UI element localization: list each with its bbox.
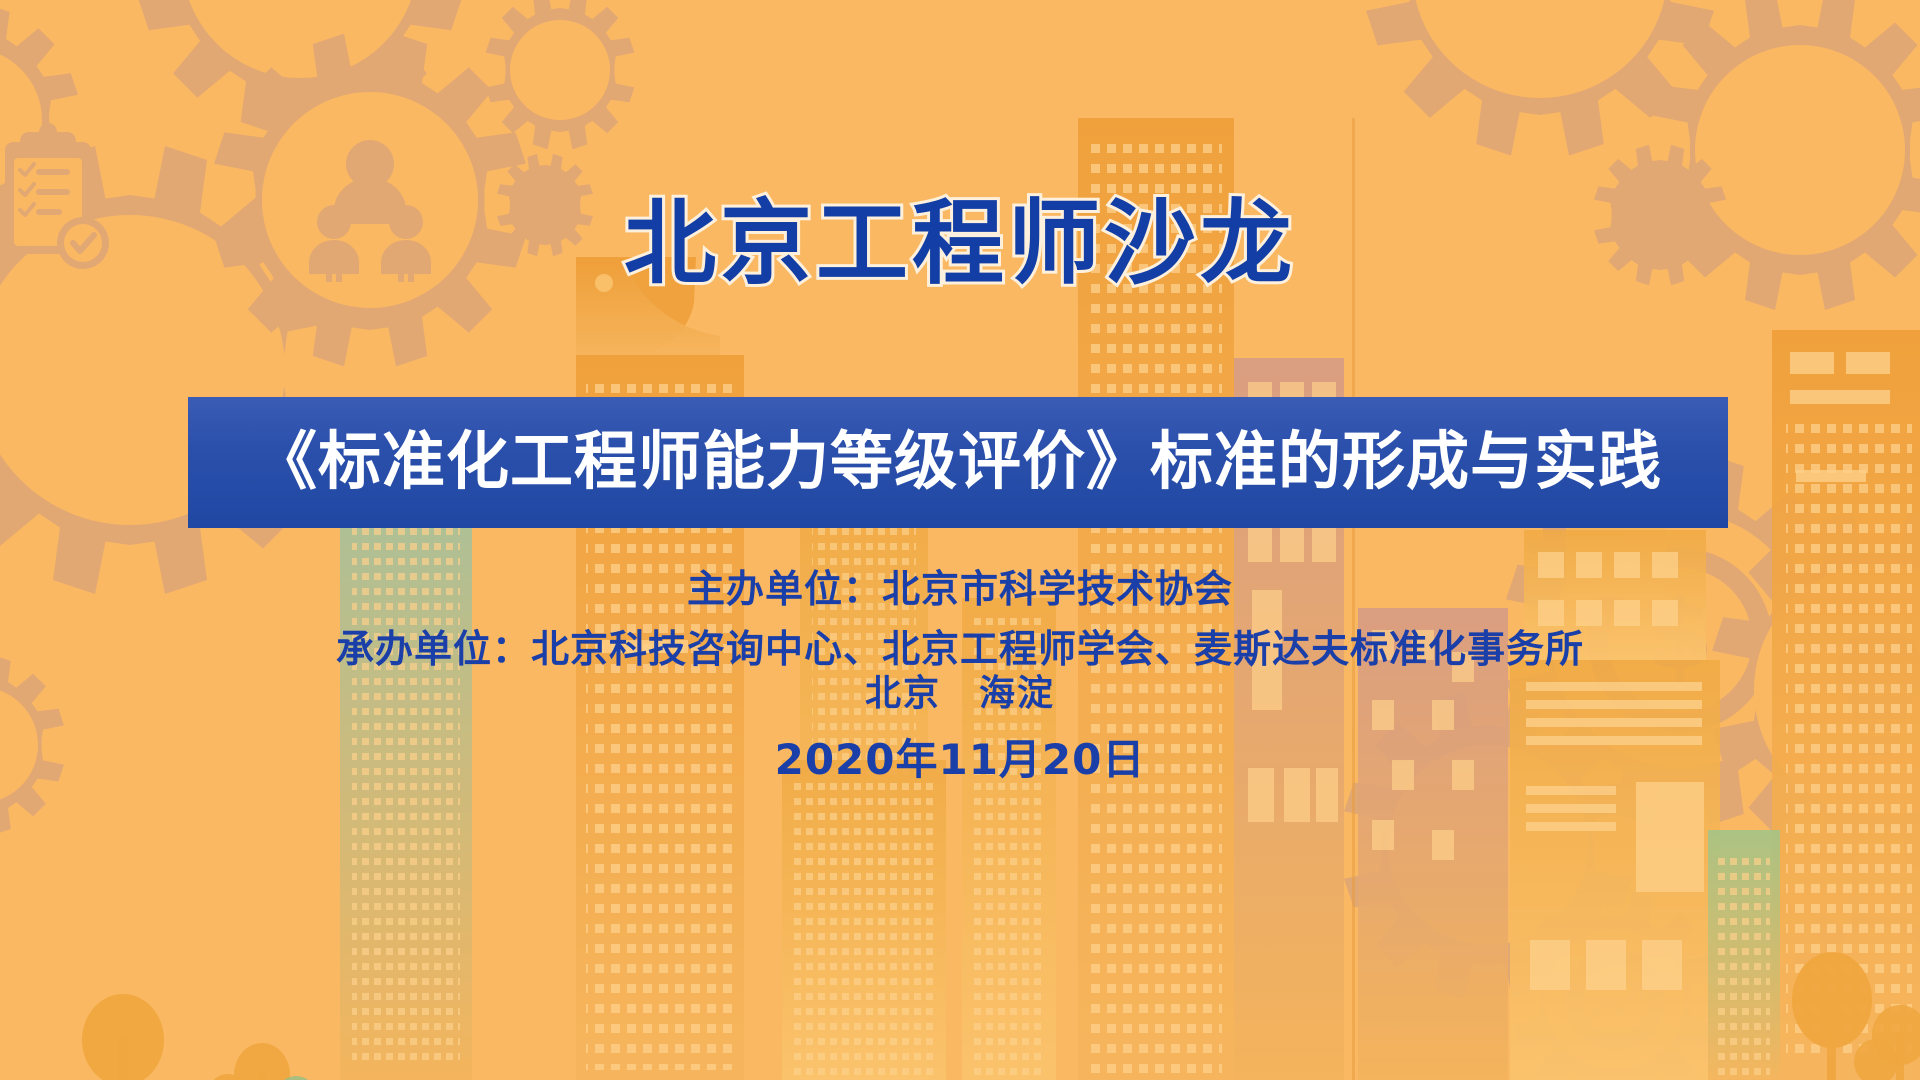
subtitle-text: 《标准化工程师能力等级评价》标准的形成与实践 [254, 430, 1662, 493]
venue-text: 北京 海淀 [0, 664, 1920, 716]
presentation-slide: $ [0, 0, 1920, 1080]
page-title: 北京工程师沙龙 [0, 196, 1920, 293]
subtitle-banner: 《标准化工程师能力等级评价》标准的形成与实践 [188, 397, 1728, 528]
host-organization-line: 主办单位：北京市科学技术协会 [0, 558, 1920, 613]
event-date-text: 2020年11月20日 [0, 726, 1920, 787]
